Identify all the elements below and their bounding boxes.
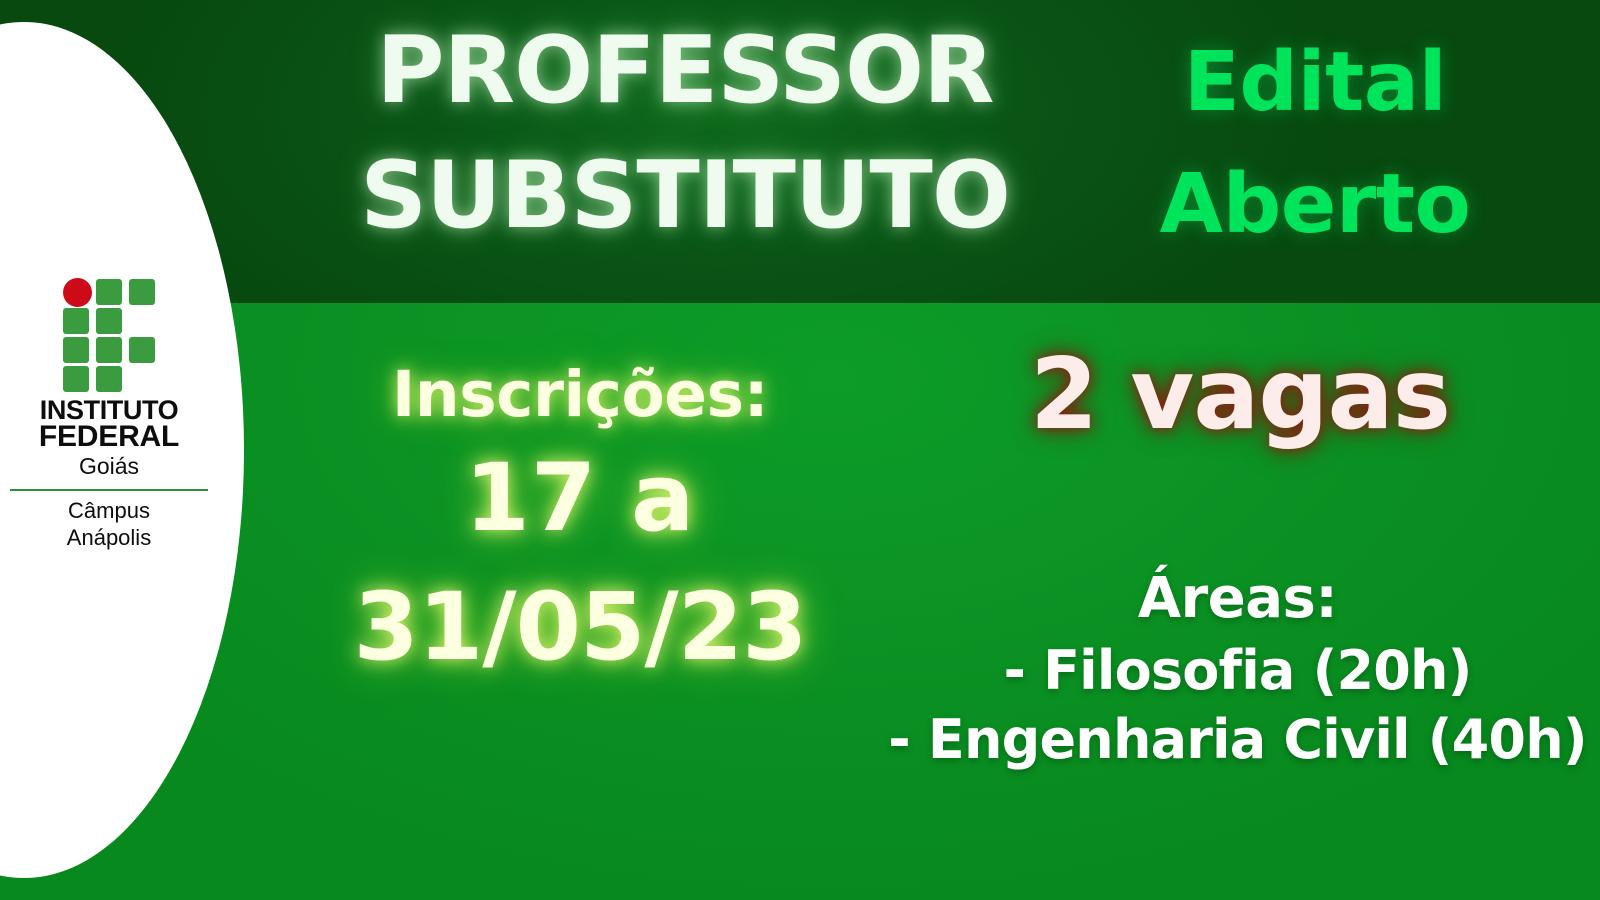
ifg-logo-mark-icon (61, 278, 157, 390)
ifg-logo-block: INSTITUTO FEDERAL Goiás Câmpus Anápolis (0, 278, 218, 552)
inscricoes-label: Inscrições: (290, 358, 870, 432)
areas-title: Áreas: (880, 562, 1595, 636)
vagas-count-text: 2 vagas (960, 342, 1520, 450)
logo-campus-line2: Anápolis (67, 525, 151, 550)
status-badge-edital-aberto: Edital Aberto (1090, 22, 1540, 266)
areas-block: Áreas: - Filosofia (20h) - Engenharia Ci… (880, 562, 1595, 774)
logo-divider (10, 489, 208, 491)
poster-canvas: INSTITUTO FEDERAL Goiás Câmpus Anápolis … (0, 0, 1600, 900)
inscricoes-date-line-1: 17 a (290, 432, 870, 565)
edital-line-1: Edital (1090, 22, 1540, 144)
headline-line-1: PROFESSOR (350, 8, 1020, 133)
logo-institute-line2: FEDERAL (39, 420, 179, 453)
page-title: PROFESSOR SUBSTITUTO (350, 8, 1020, 257)
inscricoes-date-line-2: 31/05/23 (290, 566, 870, 690)
logo-institute-name: INSTITUTO FEDERAL (0, 398, 218, 450)
logo-campus-label: Câmpus Anápolis (0, 498, 218, 552)
areas-item-0: - Filosofia (20h) (880, 636, 1595, 705)
logo-campus-line1: Câmpus (68, 498, 150, 523)
inscricoes-block: Inscrições: 17 a 31/05/23 (290, 358, 870, 690)
areas-item-1: - Engenharia Civil (40h) (880, 705, 1595, 774)
logo-state-label: Goiás (0, 453, 218, 481)
edital-line-2: Aberto (1090, 144, 1540, 266)
headline-line-2: SUBSTITUTO (350, 133, 1020, 258)
